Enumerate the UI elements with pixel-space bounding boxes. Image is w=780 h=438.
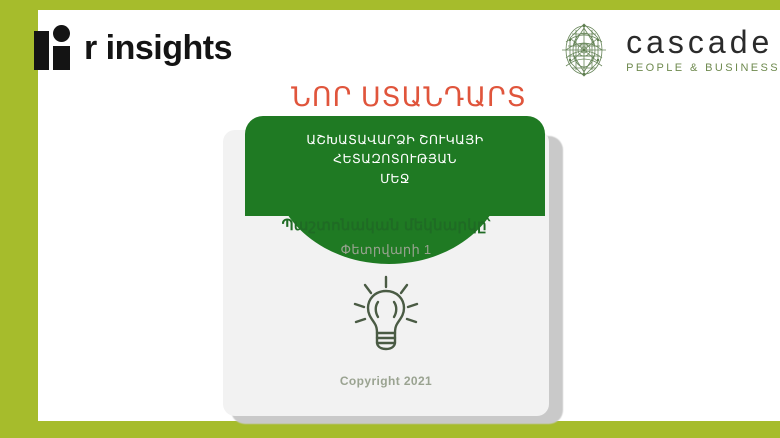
cascade-logo: cascade PEOPLE & BUSINESS — [560, 22, 780, 78]
official-start-label: Պաշտոնական մեկնարկը՝ — [223, 216, 549, 234]
cascade-wordmark: cascade — [626, 26, 773, 60]
mark-bar-shape — [34, 31, 49, 70]
page-title: ՆՈՐ ՍՏԱՆԴԱՐՏ — [38, 82, 780, 113]
announcement-card: ԱՇԽԱՏԱՎԱՐՁԻ ՇՈՒԿԱՅԻ ՀԵՏԱԶՈՏՈՒԹՅԱՆ ՄԵՋ Պա… — [223, 116, 563, 426]
official-start-date: Փետրվարի 1 — [223, 242, 549, 258]
lightbulb-icon-holder — [223, 272, 549, 358]
card-header-line-2: ՀԵՏԱԶՈՏՈՒԹՅԱՆ — [245, 150, 545, 169]
lightbulb-icon — [343, 272, 429, 358]
card-header-text: ԱՇԽԱՏԱՎԱՐՁԻ ՇՈՒԿԱՅԻ ՀԵՏԱԶՈՏՈՒԹՅԱՆ ՄԵՋ — [245, 116, 545, 189]
mark-circle-shape — [53, 25, 70, 42]
slide-frame: r insights — [0, 0, 780, 438]
r-insights-mark-icon — [34, 25, 70, 70]
copyright-text: Copyright 2021 — [223, 374, 549, 388]
r-insights-wordmark: r insights — [84, 31, 232, 65]
r-insights-logo: r insights — [34, 25, 232, 70]
slide-canvas: r insights — [38, 10, 780, 421]
cascade-text-block: cascade PEOPLE & BUSINESS — [626, 26, 780, 75]
card-header: ԱՇԽԱՏԱՎԱՐՁԻ ՇՈՒԿԱՅԻ ՀԵՏԱԶՈՏՈՒԹՅԱՆ ՄԵՋ — [245, 116, 545, 216]
card-header-line-3: ՄԵՋ — [245, 170, 545, 189]
card-body: Պաշտոնական մեկնարկը՝ Փետրվարի 1 — [223, 216, 549, 388]
cascade-tagline: PEOPLE & BUSINESS — [626, 62, 780, 74]
mandala-emblem-icon — [560, 22, 608, 78]
card-header-line-1: ԱՇԽԱՏԱՎԱՐՁԻ ՇՈՒԿԱՅԻ — [245, 131, 545, 150]
mark-stem-shape — [53, 46, 70, 70]
